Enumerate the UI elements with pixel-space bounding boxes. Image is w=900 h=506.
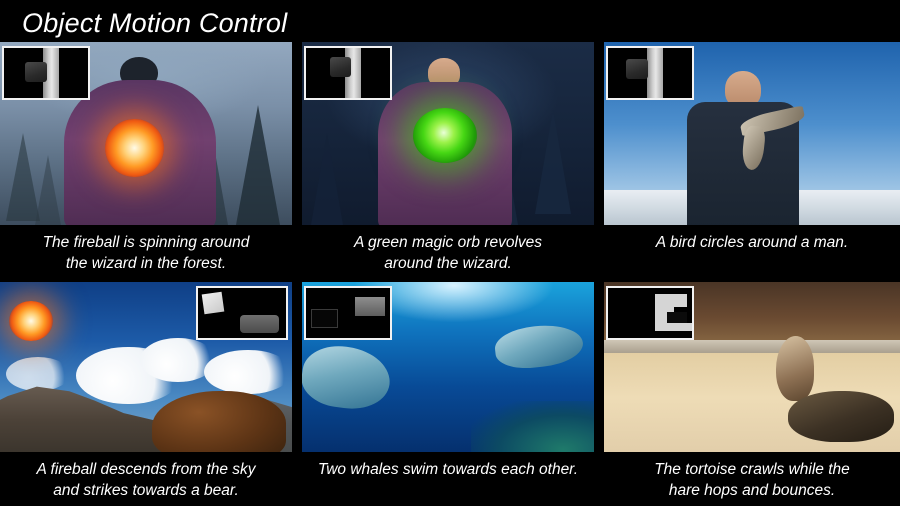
trajectory-square-icon [202, 292, 225, 315]
tortoise [788, 391, 895, 442]
trajectory-glyph-icon [667, 323, 692, 331]
whale-right [493, 322, 584, 372]
fireball-effect [105, 119, 163, 178]
panel-2-video-frame[interactable] [302, 42, 594, 225]
cloud [204, 350, 292, 394]
pine-tree-icon [535, 110, 571, 214]
panel-caption: A green magic orb revolves around the wi… [302, 225, 594, 274]
trajectory-glyph-icon [655, 294, 687, 307]
panel-caption: A bird circles around a man. [604, 225, 900, 253]
results-grid: The fireball is spinning around the wiza… [0, 42, 900, 506]
panel-1-video-frame[interactable] [0, 42, 292, 225]
trajectory-box-icon [355, 297, 385, 316]
bear [152, 391, 286, 452]
panel-5[interactable]: Two whales swim towards each other. [302, 282, 594, 480]
pine-tree-icon [236, 105, 280, 225]
panel-caption: Two whales swim towards each other. [302, 452, 594, 480]
screenshot-root: Object Motion Control [0, 0, 900, 506]
trajectory-box-icon [240, 315, 279, 333]
page-title: Object Motion Control [22, 8, 287, 38]
panel-3[interactable]: A bird circles around a man. [604, 42, 900, 253]
panel-4-video-frame[interactable] [0, 282, 292, 452]
cloud [6, 357, 70, 391]
trajectory-outline-box-icon [311, 309, 338, 328]
motion-trajectory-inset[interactable] [304, 46, 392, 100]
trajectory-cube-icon [626, 59, 648, 79]
panel-caption: The fireball is spinning around the wiza… [0, 225, 292, 274]
panel-6[interactable]: The tortoise crawls while the hare hops … [604, 282, 900, 501]
whale-left [302, 341, 393, 414]
hare [776, 336, 814, 401]
trajectory-cube-icon [330, 57, 352, 77]
green-orb-effect [413, 108, 477, 163]
coral-reef [471, 401, 594, 452]
fireball-effect [9, 301, 53, 342]
results-row-2: A fireball descends from the sky and str… [0, 282, 900, 506]
motion-trajectory-inset[interactable] [304, 286, 392, 340]
pine-tree-icon [311, 133, 343, 225]
panel-2[interactable]: A green magic orb revolves around the wi… [302, 42, 594, 274]
panel-1[interactable]: The fireball is spinning around the wiza… [0, 42, 292, 274]
trajectory-cylinder-icon [647, 46, 663, 100]
trajectory-cube-icon [25, 62, 47, 82]
pine-tree-icon [35, 155, 61, 225]
panel-5-video-frame[interactable] [302, 282, 594, 452]
motion-trajectory-inset[interactable] [2, 46, 90, 100]
panel-3-video-frame[interactable] [604, 42, 900, 225]
motion-trajectory-inset[interactable] [606, 286, 694, 340]
panel-4[interactable]: A fireball descends from the sky and str… [0, 282, 292, 501]
panel-caption: The tortoise crawls while the hare hops … [604, 452, 900, 501]
panel-caption: A fireball descends from the sky and str… [0, 452, 292, 501]
motion-trajectory-inset[interactable] [606, 46, 694, 100]
motion-trajectory-inset[interactable] [196, 286, 288, 340]
panel-6-video-frame[interactable] [604, 282, 900, 452]
results-row-1: The fireball is spinning around the wiza… [0, 42, 900, 282]
